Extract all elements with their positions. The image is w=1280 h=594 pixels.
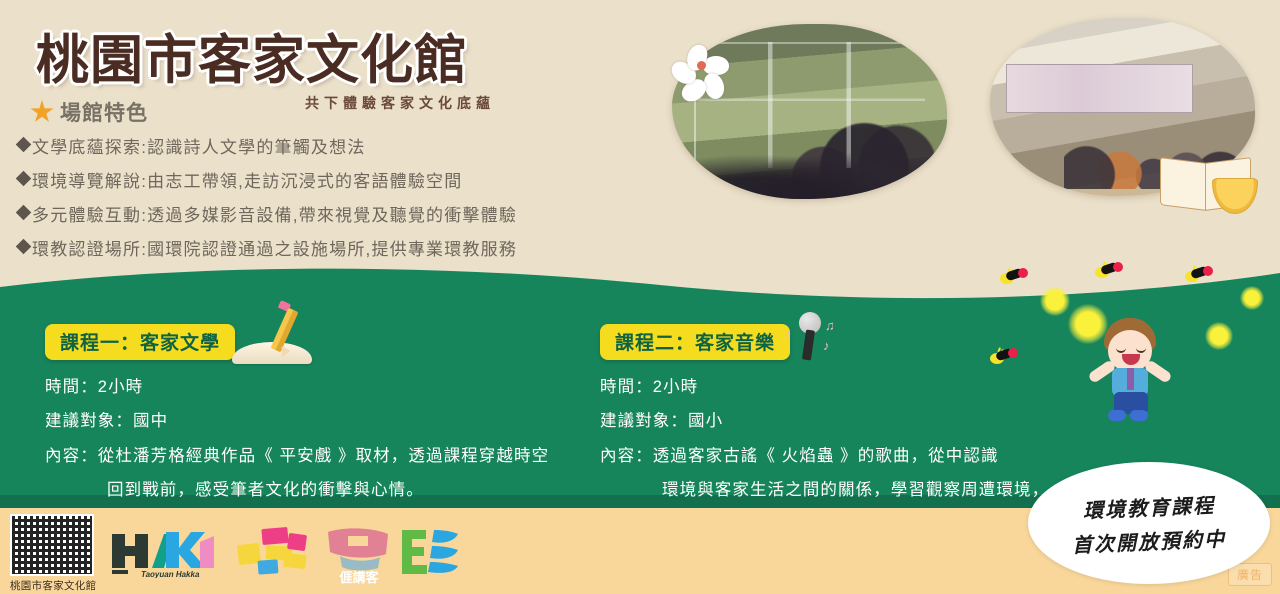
list-item: 環教認證場所:國環院認證通過之設施場所,提供專業環教服務 <box>18 235 778 260</box>
page-subtitle: 共下體驗客家文化底蘊 <box>305 93 495 113</box>
diamond-bullet-icon <box>16 205 32 221</box>
course-2-badge: 課程二：客家音樂 <box>600 324 790 360</box>
diamond-bullet-icon <box>16 239 32 255</box>
course-1-content-line2: 回到戰前，感受筆者文化的衝擊與心情。 <box>45 479 590 501</box>
colorblocks-logo <box>236 526 314 578</box>
firefly-glow <box>1040 286 1070 316</box>
ad-tag: 廣告 <box>1228 563 1272 586</box>
hakka-logo: Taoyuan Hakka <box>108 526 218 578</box>
feature-text: 多元體驗互動:透過多媒影音設備,帶來視覺及聽覺的衝擊體驗 <box>32 201 517 226</box>
course-2-time: 時間：2小時 <box>600 376 1070 398</box>
list-item: 多元體驗互動:透過多媒影音設備,帶來視覺及聽覺的衝擊體驗 <box>18 201 778 226</box>
tung-blossom-icon <box>672 36 730 94</box>
firefly-glow <box>1240 286 1264 310</box>
open-book-bowl-icon <box>1160 152 1255 214</box>
feature-heading: 場館特色 <box>30 97 148 127</box>
speak-hakka-logo: 𠊎講客 <box>322 526 396 584</box>
microphone-icon: ♪ ♫ ♪ <box>785 312 835 364</box>
list-item: 環境導覽解說:由志工帶領,走訪沉浸式的客語體驗空間 <box>18 167 778 192</box>
course-2-audience: 建議對象：國小 <box>600 410 1070 432</box>
course-1-time: 時間：2小時 <box>45 376 590 398</box>
pencil-book-icon <box>232 312 314 364</box>
course-1-audience: 建議對象：國中 <box>45 410 590 432</box>
feature-text: 文學底蘊探索:認識詩人文學的筆觸及想法 <box>32 133 366 158</box>
firefly-glow <box>1205 322 1233 350</box>
course-2-content-line2: 環境與客家生活之間的關係，學習觀察周遭環境， <box>600 479 1070 501</box>
list-item: 文學底蘊探索:認識詩人文學的筆觸及想法 <box>18 133 778 158</box>
course-2-content-line2-text: 環境與客家生活之間的關係，學習觀察周遭環境， <box>662 481 1049 499</box>
diamond-bullet-icon <box>16 171 32 187</box>
star-icon <box>30 100 54 124</box>
course-1-content-line1: 內容：從杜潘芳格經典作品《 平安戲 》取材，透過課程穿越時空 <box>45 445 590 467</box>
course-1-badge: 課程一：客家文學 <box>45 324 235 360</box>
hakka-logo-sub: Taoyuan Hakka <box>141 570 200 578</box>
poster-root: 桃園市客家文化館 共下體驗客家文化底蘊 場館特色 文學底蘊探索:認識詩人文學的筆… <box>0 0 1280 594</box>
header-section: 桃園市客家文化館 共下體驗客家文化底蘊 場館特色 文學底蘊探索:認識詩人文學的筆… <box>0 0 1280 300</box>
course-card-1: 課程一：客家文學 時間：2小時 建議對象：國中 內容：從杜潘芳格經典作品《 平安… <box>45 324 590 513</box>
course-1-content-line2-text: 回到戰前，感受筆者文化的衝擊與心情。 <box>107 481 424 499</box>
qr-code-icon[interactable] <box>10 514 94 576</box>
firefly-icon <box>1000 268 1028 284</box>
badge-line-1: 環境教育課程 <box>1082 489 1215 524</box>
firefly-icon <box>1185 266 1213 282</box>
ee-logo <box>398 526 460 574</box>
diamond-bullet-icon <box>16 137 32 153</box>
feature-text: 環教認證場所:國環院認證通過之設施場所,提供專業環教服務 <box>32 235 517 260</box>
speak-hakka-logo-text: 𠊎講客 <box>338 570 379 584</box>
feature-heading-label: 場館特色 <box>60 97 148 127</box>
page-title: 桃園市客家文化館 <box>36 18 468 94</box>
firefly-icon <box>1095 262 1123 278</box>
qr-code-block[interactable]: 桃園市客家文化館 <box>10 514 96 593</box>
qr-caption: 桃園市客家文化館 <box>10 578 96 593</box>
status-badge: 環境教育課程 首次開放預約中 <box>1028 462 1270 584</box>
child-illustration <box>1086 318 1174 422</box>
badge-line-2: 首次開放預約中 <box>1071 522 1226 558</box>
feature-text: 環境導覽解說:由志工帶領,走訪沉浸式的客語體驗空間 <box>32 167 462 192</box>
course-2-content-line1: 內容：透過客家古謠《 火焰蟲 》的歌曲，從中認識 <box>600 445 1070 467</box>
